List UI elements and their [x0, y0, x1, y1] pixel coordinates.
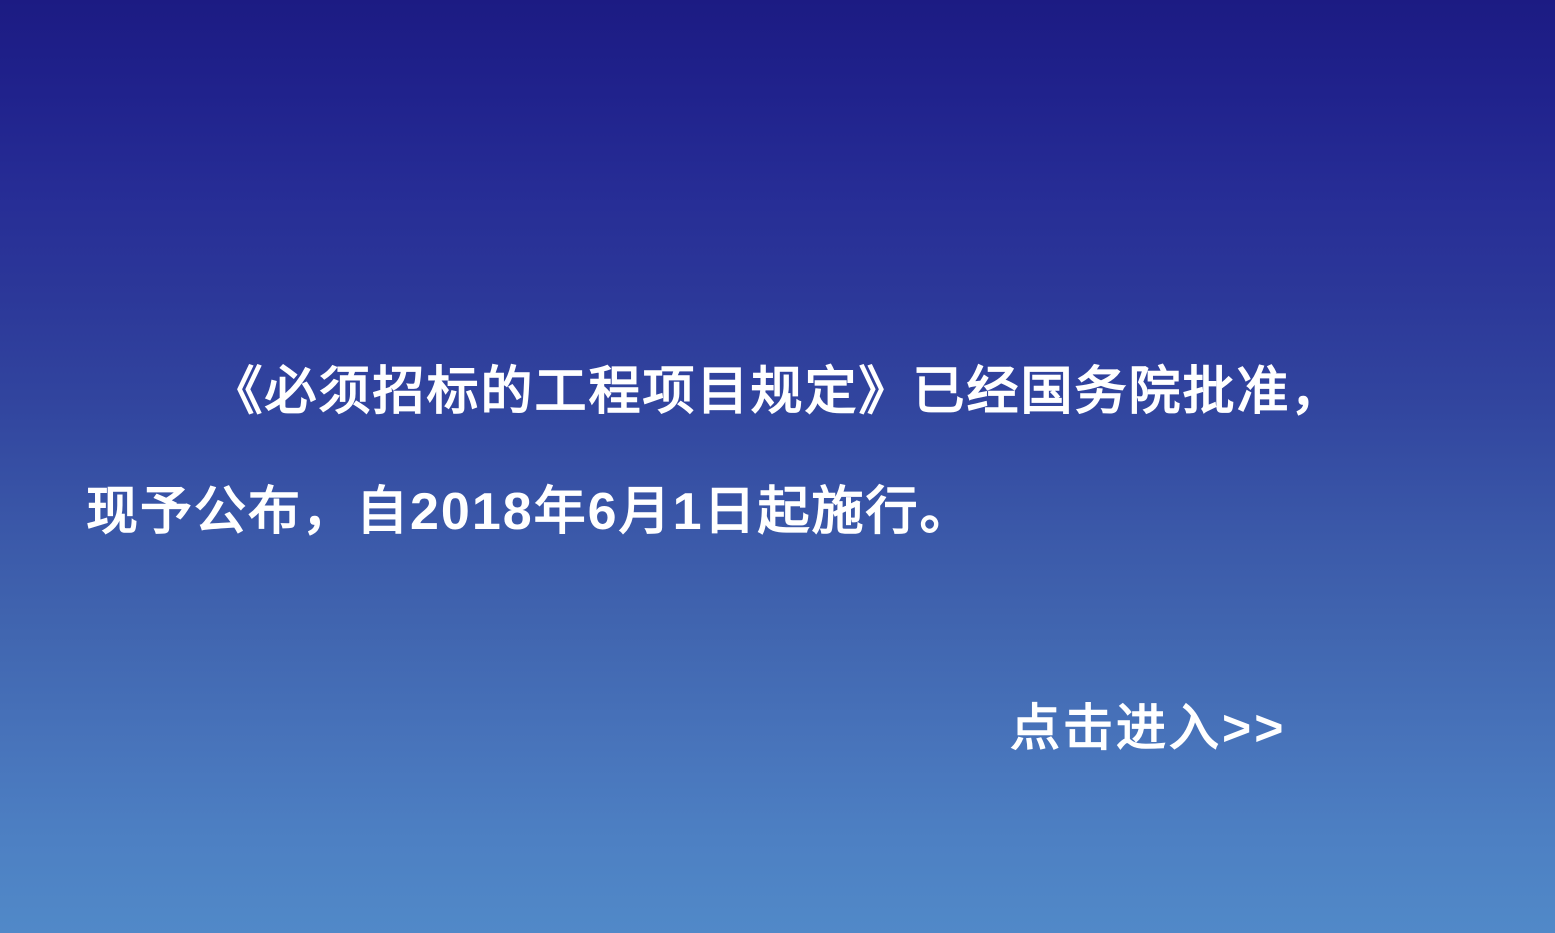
statement-line-2: 现予公布，自2018年6月1日起施行。 [60, 452, 1495, 572]
enter-link[interactable]: 点击进入>> [1010, 692, 1286, 764]
statement-line-1: 《必须招标的工程项目规定》已经国务院批准， [60, 332, 1495, 452]
statement-block: 《必须招标的工程项目规定》已经国务院批准， 现予公布，自2018年6月1日起施行… [0, 332, 1555, 572]
promo-banner: 《必须招标的工程项目规定》已经国务院批准， 现予公布，自2018年6月1日起施行… [0, 0, 1555, 933]
